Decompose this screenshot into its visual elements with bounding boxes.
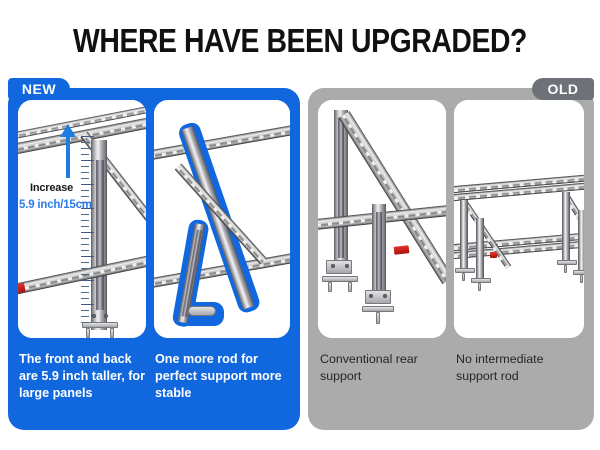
bolt [369,294,373,298]
bolt [345,264,349,268]
photo-solar-mount-extra-diagonal-rod-highlighted [154,100,290,338]
rear-post-inner [376,212,382,296]
arrow-up-head-icon [60,124,76,137]
foot-2-bolt [478,283,481,291]
caption-extra-rod: One more rod for perfect support more st… [155,351,295,402]
left-post-inner [338,118,344,258]
left-base-plate [322,276,358,282]
rail-red-cap [394,245,410,255]
page-title: WHERE HAVE BEEN UPGRADED? [42,22,558,60]
infographic-root: WHERE HAVE BEEN UPGRADED? NEW [0,0,600,450]
increase-value: 5.9 inch/15cm [19,199,92,211]
rail-red-cap [490,252,497,258]
vertical-post-inner [96,160,104,310]
foot-3-bolt [564,265,567,273]
rod-foot-bracket [188,306,216,316]
card-taller[interactable]: Increase 5.9 inch/15cm [18,100,146,338]
foot-1-bolt [462,273,465,281]
post-3 [562,192,570,262]
foot-1 [455,268,475,273]
left-diagonal-brace [462,199,512,269]
foot-4-bolt [580,275,583,283]
foot-2 [471,278,491,283]
left-anchor-bolt [328,282,332,292]
caption-no-rod: No intermediate support rod [456,351,588,385]
photo-solar-mount-conventional-rear-support [318,100,446,338]
photo-solar-mount-rail-height-ruler: Increase 5.9 inch/15cm [18,100,146,338]
photo-solar-mount-full-rack-no-intermediate-rod [454,100,584,338]
badge-old: OLD [532,78,594,100]
post-1 [460,200,468,270]
caption-conventional: Conventional rear support [320,351,448,385]
bolt [331,264,335,268]
foot-3 [557,260,577,265]
anchor-bolt-left [86,328,90,338]
bolt [383,294,387,298]
card-conventional[interactable] [318,100,446,338]
left-anchor-bolt-2 [348,282,352,292]
post-4 [578,210,584,272]
upper-rail [154,122,290,162]
increase-label: Increase [30,182,73,194]
anchor-bolt-right [110,328,114,338]
post-2 [476,218,484,280]
bolt [104,314,108,318]
badge-new: NEW [8,78,70,100]
ruler-major-ticks [81,136,94,324]
arrow-up-icon [66,134,70,178]
caption-taller: The front and back are 5.9 inch taller, … [19,351,145,402]
card-extra-rod[interactable] [154,100,290,338]
rear-anchor-bolt [376,312,380,324]
card-no-rod[interactable] [454,100,584,338]
diagonal-rail [338,111,446,284]
